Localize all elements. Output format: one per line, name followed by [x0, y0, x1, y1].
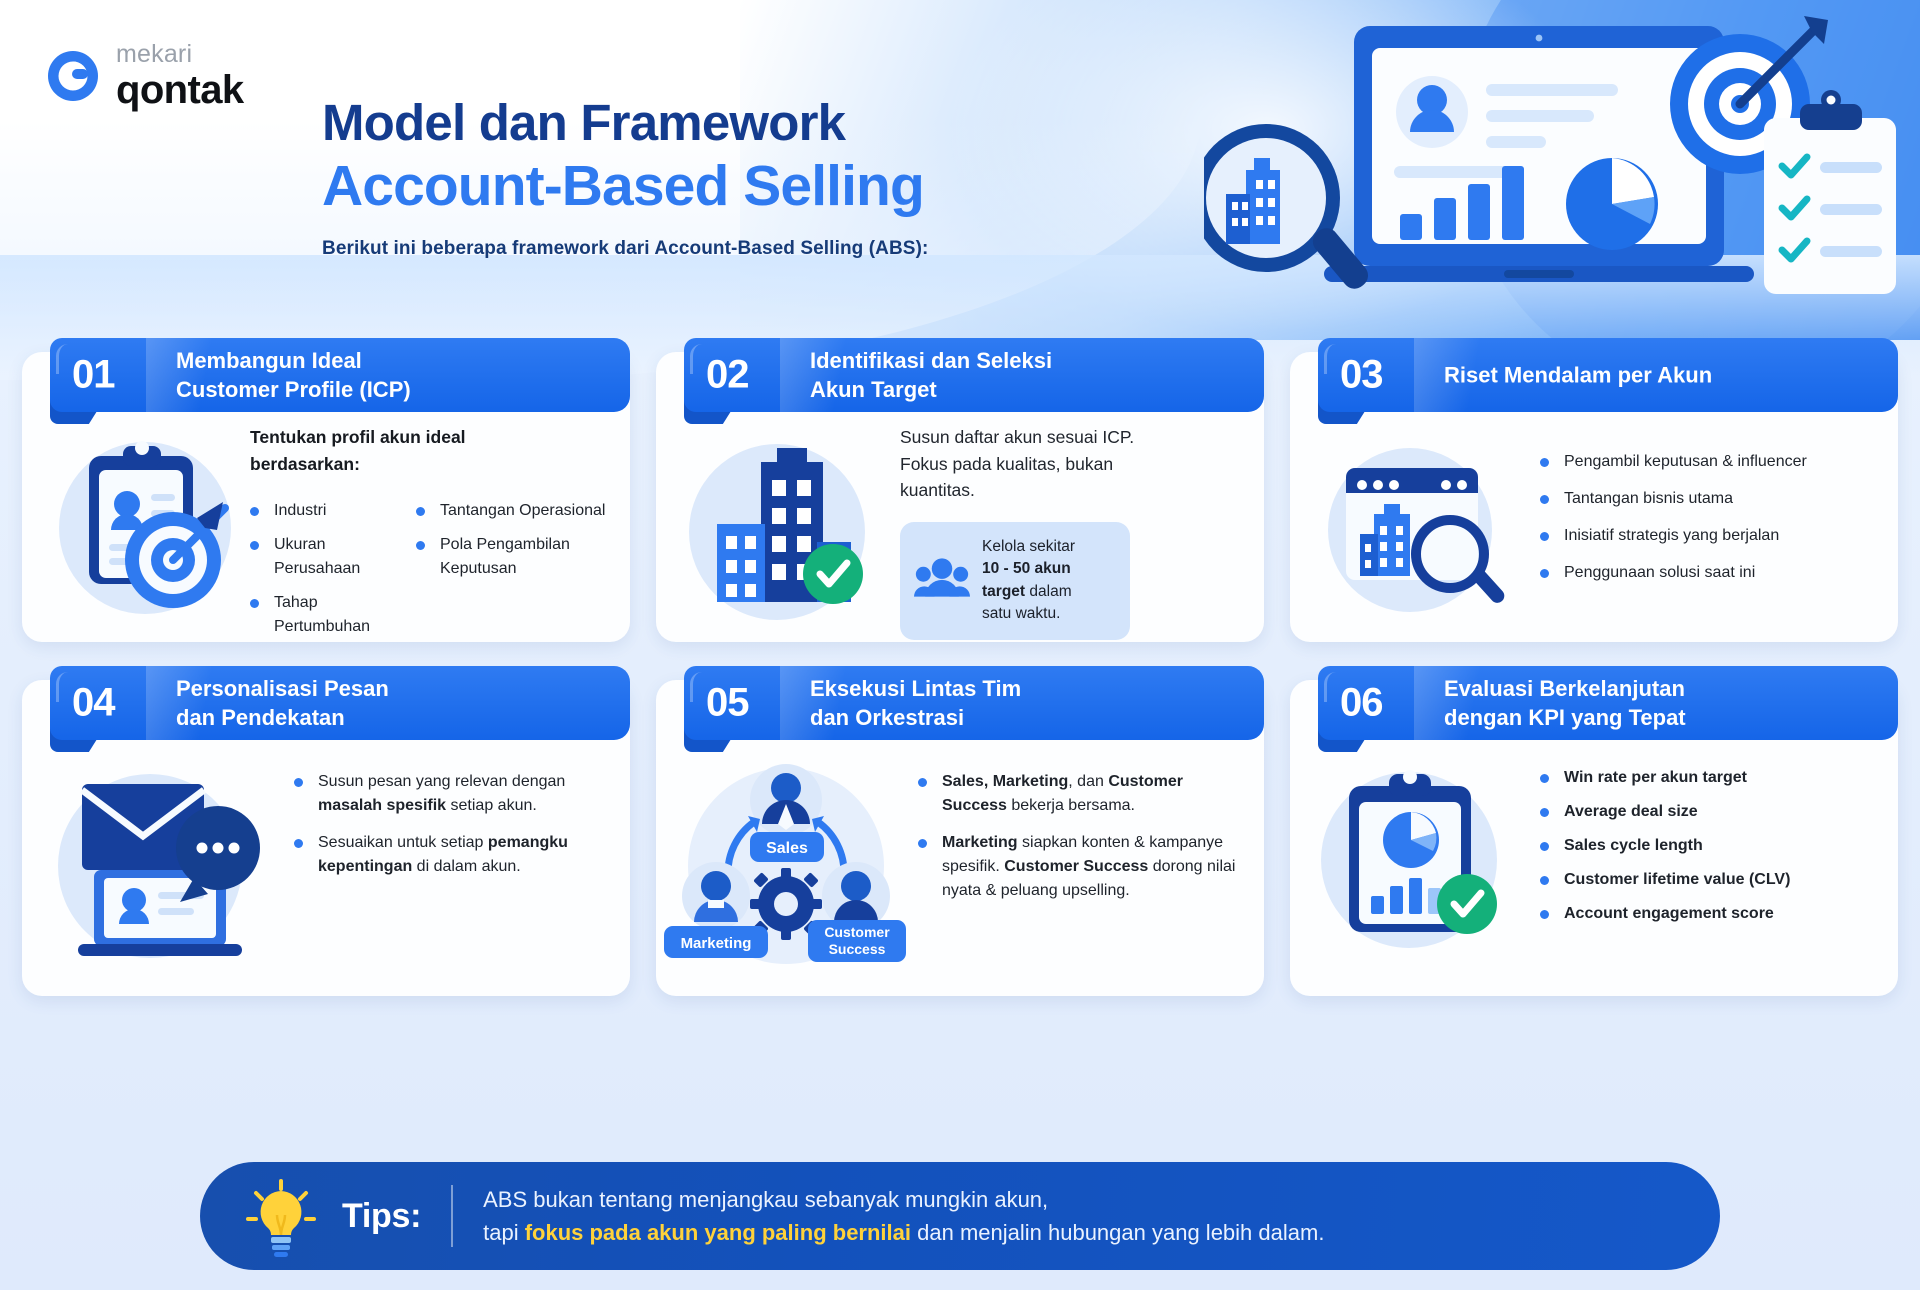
list-item: Sales cycle length — [1540, 834, 1882, 858]
card-06-content: Win rate per akun target Average deal si… — [1290, 752, 1898, 986]
diagram-label-sales: Sales — [766, 840, 808, 857]
page-title-line1: Model dan Framework — [322, 96, 928, 150]
group-people-icon — [914, 555, 970, 606]
card-04-bullets: Susun pesan yang relevan dengan masalah … — [294, 770, 614, 879]
card-01-number: 01 — [72, 353, 115, 398]
diagram-label-customer: Customer — [824, 924, 890, 940]
buildings-check-icon — [656, 424, 900, 632]
list-item: Tantangan bisnis utama — [1540, 487, 1882, 511]
ribbon-main: 05 Eksekusi Lintas Tim dan Orkestrasi — [684, 666, 1264, 740]
list-item: Industri — [250, 499, 410, 523]
card-06-bullets: Win rate per akun target Average deal si… — [1540, 766, 1882, 926]
card-01-bullets-left: Industri Ukuran Perusahaan Tahap Pertumb… — [250, 499, 410, 649]
tips-text: ABS bukan tentang menjangkau sebanyak mu… — [483, 1183, 1324, 1250]
ribbon-main: 01 Membangun Ideal Customer Profile (ICP… — [50, 338, 630, 412]
card-01-bullets-right: Tantangan Operasional Pola Pengambilan K… — [416, 499, 614, 649]
list-item: Inisiatif strategis yang berjalan — [1540, 524, 1882, 548]
card-02-lead-line2: Fokus pada kualitas, bukan — [900, 451, 1248, 478]
card-02[interactable]: 02 Identifikasi dan Seleksi Akun Target — [656, 338, 1264, 642]
card-02-header: 02 Identifikasi dan Seleksi Akun Target — [684, 338, 1264, 416]
card-04-content: Susun pesan yang relevan dengan masalah … — [22, 752, 630, 986]
page-subtitle: Berikut ini beberapa framework dari Acco… — [322, 238, 928, 260]
card-01-header: 01 Membangun Ideal Customer Profile (ICP… — [50, 338, 630, 416]
lightbulb-icon — [244, 1177, 318, 1255]
tips-banner: Tips: ABS bukan tentang menjangkau seban… — [200, 1162, 1720, 1270]
card-06-title-line1: Evaluasi Berkelanjutan — [1444, 674, 1880, 703]
card-02-text: Susun daftar akun sesuai ICP. Fokus pada… — [900, 424, 1264, 632]
ribbon-main: 06 Evaluasi Berkelanjutan dengan KPI yan… — [1318, 666, 1898, 740]
list-item: Sales, Marketing, dan Customer Success b… — [918, 770, 1248, 818]
card-03-header: 03 Riset Mendalam per Akun — [1318, 338, 1898, 416]
laptop-envelope-chat-icon — [22, 752, 294, 986]
ribbon-main: 03 Riset Mendalam per Akun — [1318, 338, 1898, 412]
callout-line3-rest: dalam — [1025, 583, 1072, 600]
tips-line2-highlight: fokus pada akun yang paling bernilai — [525, 1220, 911, 1245]
card-01[interactable]: 01 Membangun Ideal Customer Profile (ICP… — [22, 338, 630, 642]
hero-illustration — [1204, 8, 1904, 308]
logo-text-qontak: qontak — [116, 70, 244, 110]
card-04-number: 04 — [72, 681, 115, 726]
card-04[interactable]: 04 Personalisasi Pesan dan Pendekatan — [22, 666, 630, 996]
card-05-title: Eksekusi Lintas Tim dan Orkestrasi — [810, 674, 1246, 732]
list-item: Sesuaikan untuk setiap pemangku kepentin… — [294, 831, 614, 879]
card-02-lead: Susun daftar akun sesuai ICP. Fokus pada… — [900, 424, 1248, 504]
card-05-content: Sales Marketing Customer Success Sales, … — [656, 752, 1264, 986]
card-06-text: Win rate per akun target Average deal si… — [1540, 752, 1898, 986]
card-05-text: Sales, Marketing, dan Customer Success b… — [918, 752, 1264, 986]
browser-building-magnifier-icon — [1290, 424, 1540, 632]
card-05-title-line2: dan Orkestrasi — [810, 703, 1246, 732]
ribbon-main: 04 Personalisasi Pesan dan Pendekatan — [50, 666, 630, 740]
card-05[interactable]: 05 Eksekusi Lintas Tim dan Orkestrasi — [656, 666, 1264, 996]
card-02-number: 02 — [706, 353, 749, 398]
framework-cards-grid: 01 Membangun Ideal Customer Profile (ICP… — [22, 338, 1898, 996]
card-01-lead: Tentukan profil akun ideal berdasarkan: — [250, 424, 614, 477]
tips-line2-post: dan menjalin hubungan yang lebih dalam. — [911, 1220, 1324, 1245]
list-item: Customer lifetime value (CLV) — [1540, 868, 1882, 892]
card-02-title-line1: Identifikasi dan Seleksi — [810, 346, 1246, 375]
card-02-content: Susun daftar akun sesuai ICP. Fokus pada… — [656, 424, 1264, 632]
list-item: Account engagement score — [1540, 902, 1882, 926]
card-02-title-line2: Akun Target — [810, 375, 1246, 404]
list-item: Ukuran Perusahaan — [250, 533, 410, 581]
diagram-label-success: Success — [829, 941, 886, 957]
ribbon-main: 02 Identifikasi dan Seleksi Akun Target — [684, 338, 1264, 412]
card-06-title-line2: dengan KPI yang Tepat — [1444, 703, 1880, 732]
card-06[interactable]: 06 Evaluasi Berkelanjutan dengan KPI yan… — [1290, 666, 1898, 996]
page-title-line2: Account-Based Selling — [322, 156, 928, 216]
brand-logo: mekari qontak — [44, 42, 244, 110]
card-02-callout-text: Kelola sekitar 10 - 50 akun target dalam… — [982, 536, 1075, 626]
list-item: Pola Pengambilan Keputusan — [416, 533, 614, 581]
card-05-number: 05 — [706, 681, 749, 726]
card-01-lead-line2: berdasarkan: — [250, 451, 614, 478]
list-item: Susun pesan yang relevan dengan masalah … — [294, 770, 614, 818]
diagram-label-marketing: Marketing — [681, 935, 752, 952]
list-item: Tantangan Operasional — [416, 499, 614, 523]
callout-line2: 10 - 50 akun — [982, 560, 1071, 577]
card-01-content: Tentukan profil akun ideal berdasarkan: … — [22, 424, 630, 632]
callout-line3-bold: target — [982, 583, 1025, 600]
card-03-text: Pengambil keputusan & influencer Tantang… — [1540, 424, 1898, 632]
clipboard-charts-check-icon — [1290, 752, 1540, 986]
list-item: Average deal size — [1540, 800, 1882, 824]
card-03-content: Pengambil keputusan & influencer Tantang… — [1290, 424, 1898, 632]
card-06-header: 06 Evaluasi Berkelanjutan dengan KPI yan… — [1318, 666, 1898, 744]
card-02-callout: Kelola sekitar 10 - 50 akun target dalam… — [900, 522, 1130, 640]
card-04-title-line1: Personalisasi Pesan — [176, 674, 612, 703]
card-06-number: 06 — [1340, 681, 1383, 726]
card-04-title: Personalisasi Pesan dan Pendekatan — [176, 674, 612, 732]
card-02-title: Identifikasi dan Seleksi Akun Target — [810, 346, 1246, 404]
tips-label: Tips: — [342, 1197, 421, 1236]
card-03-number: 03 — [1340, 353, 1383, 398]
card-01-bullets: Industri Ukuran Perusahaan Tahap Pertumb… — [250, 499, 614, 649]
team-orchestration-diagram: Sales Marketing Customer Success — [656, 752, 918, 986]
callout-line1: Kelola sekitar — [982, 538, 1075, 555]
card-02-lead-line3: kuantitas. — [900, 477, 1248, 504]
tips-line2-pre: tapi — [483, 1220, 525, 1245]
card-03-title: Riset Mendalam per Akun — [1444, 360, 1880, 389]
card-04-title-line2: dan Pendekatan — [176, 703, 612, 732]
card-05-title-line1: Eksekusi Lintas Tim — [810, 674, 1246, 703]
card-04-text: Susun pesan yang relevan dengan masalah … — [294, 752, 630, 986]
list-item: Marketing siapkan konten & kampanye spes… — [918, 831, 1248, 903]
qontak-logo-icon — [44, 47, 102, 105]
card-04-header: 04 Personalisasi Pesan dan Pendekatan — [50, 666, 630, 744]
list-item: Pengambil keputusan & influencer — [1540, 450, 1882, 474]
title-block: Model dan Framework Account-Based Sellin… — [322, 96, 928, 260]
list-item: Tahap Pertumbuhan — [250, 591, 410, 639]
header: mekari qontak Model dan Framework Accoun… — [0, 0, 1920, 330]
callout-line4: satu waktu. — [982, 605, 1060, 622]
card-02-lead-line1: Susun daftar akun sesuai ICP. — [900, 424, 1248, 451]
tips-divider — [451, 1185, 453, 1247]
list-item: Win rate per akun target — [1540, 766, 1882, 790]
card-06-title: Evaluasi Berkelanjutan dengan KPI yang T… — [1444, 674, 1880, 732]
card-01-title-line1: Membangun Ideal — [176, 346, 612, 375]
card-05-header: 05 Eksekusi Lintas Tim dan Orkestrasi — [684, 666, 1264, 744]
card-01-lead-line1: Tentukan profil akun ideal — [250, 424, 614, 451]
clipboard-profile-target-icon — [22, 424, 250, 632]
card-01-title: Membangun Ideal Customer Profile (ICP) — [176, 346, 612, 404]
card-03-bullets: Pengambil keputusan & influencer Tantang… — [1540, 450, 1882, 585]
card-01-title-line2: Customer Profile (ICP) — [176, 375, 612, 404]
tips-line1: ABS bukan tentang menjangkau sebanyak mu… — [483, 1187, 1048, 1212]
logo-text-mekari: mekari — [116, 42, 244, 67]
list-item: Penggunaan solusi saat ini — [1540, 561, 1882, 585]
card-05-bullets: Sales, Marketing, dan Customer Success b… — [918, 770, 1248, 903]
card-03[interactable]: 03 Riset Mendalam per Akun — [1290, 338, 1898, 642]
card-01-text: Tentukan profil akun ideal berdasarkan: … — [250, 424, 630, 632]
